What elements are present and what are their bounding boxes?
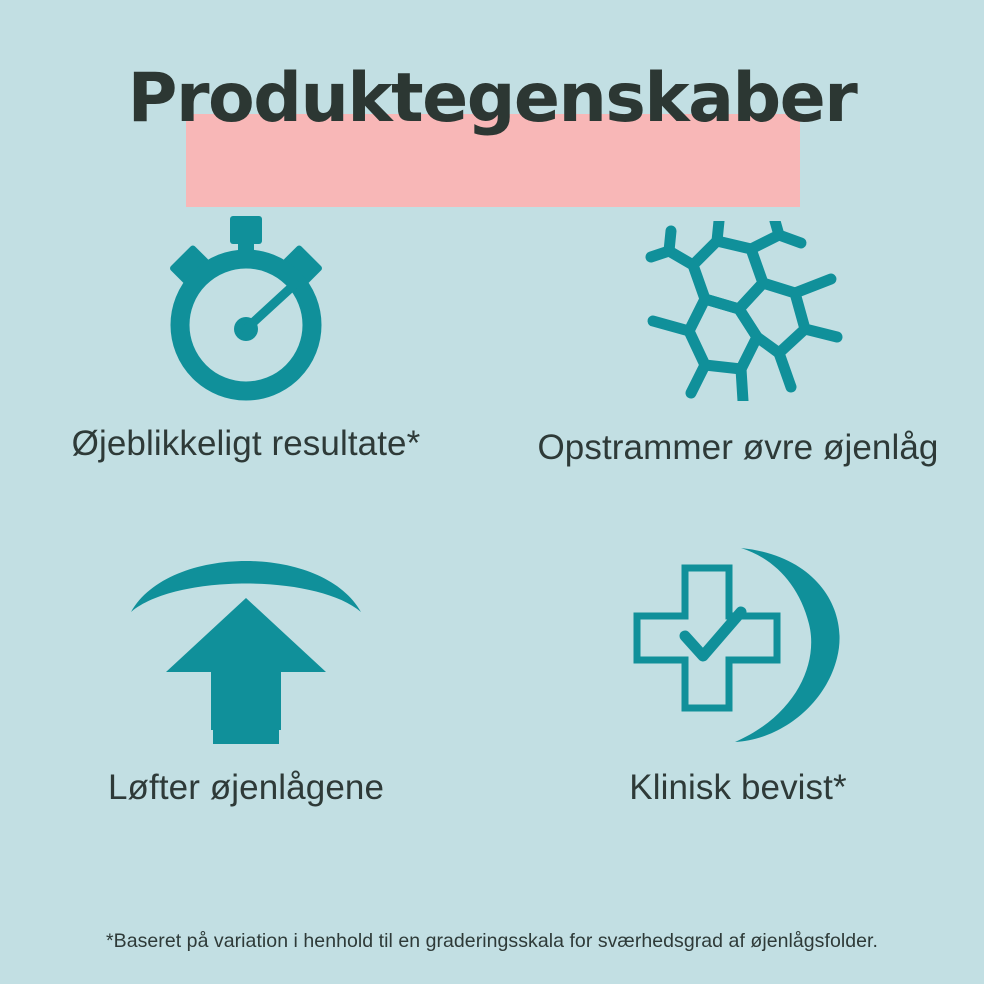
stopwatch-icon [146,196,346,402]
cross-shape [637,568,777,708]
feature-label: Opstrammer øvre øjenlåg [537,424,938,471]
page-title: Produktegenskaber [0,56,984,142]
feature-item-instant-result: Øjeblikkeligt resultate* [0,196,492,536]
feature-label: Øjeblikkeligt resultate* [72,420,421,467]
feature-grid: Øjeblikkeligt resultate* [0,196,984,876]
crescent-shape [735,548,840,742]
feature-item-lifts-eyelids: Løfter øjenlågene [0,536,492,876]
product-features-poster: Produktegenskaber [0,0,984,984]
medical-cross-check-icon [623,536,853,750]
feature-item-clinically-proven: Klinisk bevist* [492,536,984,876]
title-block: Produktegenskaber [0,44,984,174]
check-shape [685,612,741,656]
feature-item-tightens-upper-lid: Opstrammer øvre øjenlåg [492,196,984,536]
feature-label: Klinisk bevist* [629,764,846,811]
feature-label: Løfter øjenlågene [108,764,384,811]
lifting-arrow-icon [121,536,371,750]
footnote: *Baseret på variation i henhold til en g… [0,928,984,954]
collagen-network-icon [633,196,843,406]
